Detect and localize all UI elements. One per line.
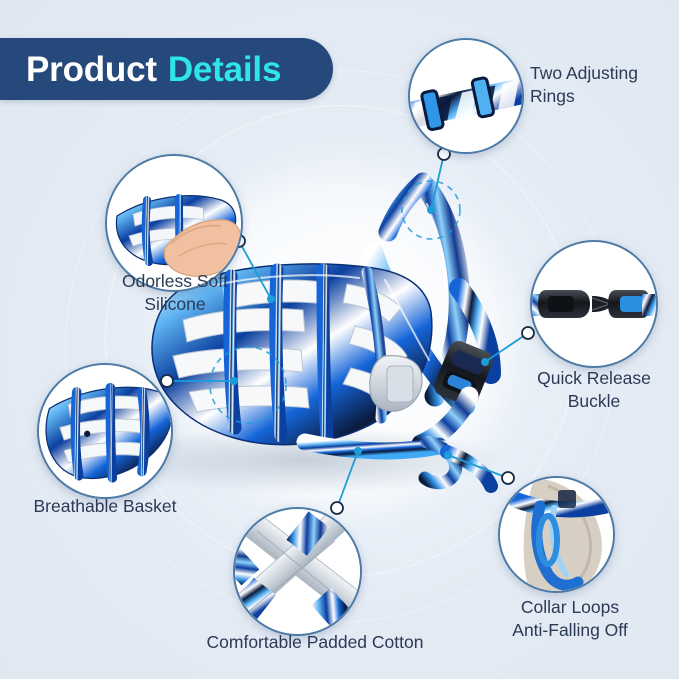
callout-bubble-two-adjusting-rings[interactable]	[408, 38, 524, 154]
page-title-accent: Details	[168, 50, 281, 89]
callout-caption-comfortable-padded-cotton: Comfortable Padded Cotton	[160, 631, 470, 654]
callout-bubble-quick-release-buckle[interactable]	[530, 240, 658, 368]
callout-caption-breathable-basket: Breathable Basket	[10, 495, 200, 518]
page-title-banner: ProductDetails	[0, 38, 333, 100]
callout-caption-two-adjusting-rings: Two Adjusting Rings	[530, 62, 679, 108]
connector-ring-comfortable-padded-cotton	[331, 502, 343, 514]
callout-caption-odorless-soft-silicone: Odorless Soft Silicone	[85, 270, 265, 316]
callout-bubble-breathable-basket[interactable]	[37, 363, 173, 499]
page-title-primary: Product	[26, 50, 157, 89]
callout-caption-quick-release-buckle: Quick Release Buckle	[518, 367, 670, 413]
callout-bubble-collar-loops-anti-falling-off[interactable]	[498, 476, 615, 593]
infographic-canvas: ProductDetails	[0, 0, 679, 679]
callout-caption-collar-loops-anti-falling-off: Collar Loops Anti-Falling Off	[490, 596, 650, 642]
callout-bubble-comfortable-padded-cotton[interactable]	[233, 507, 362, 636]
